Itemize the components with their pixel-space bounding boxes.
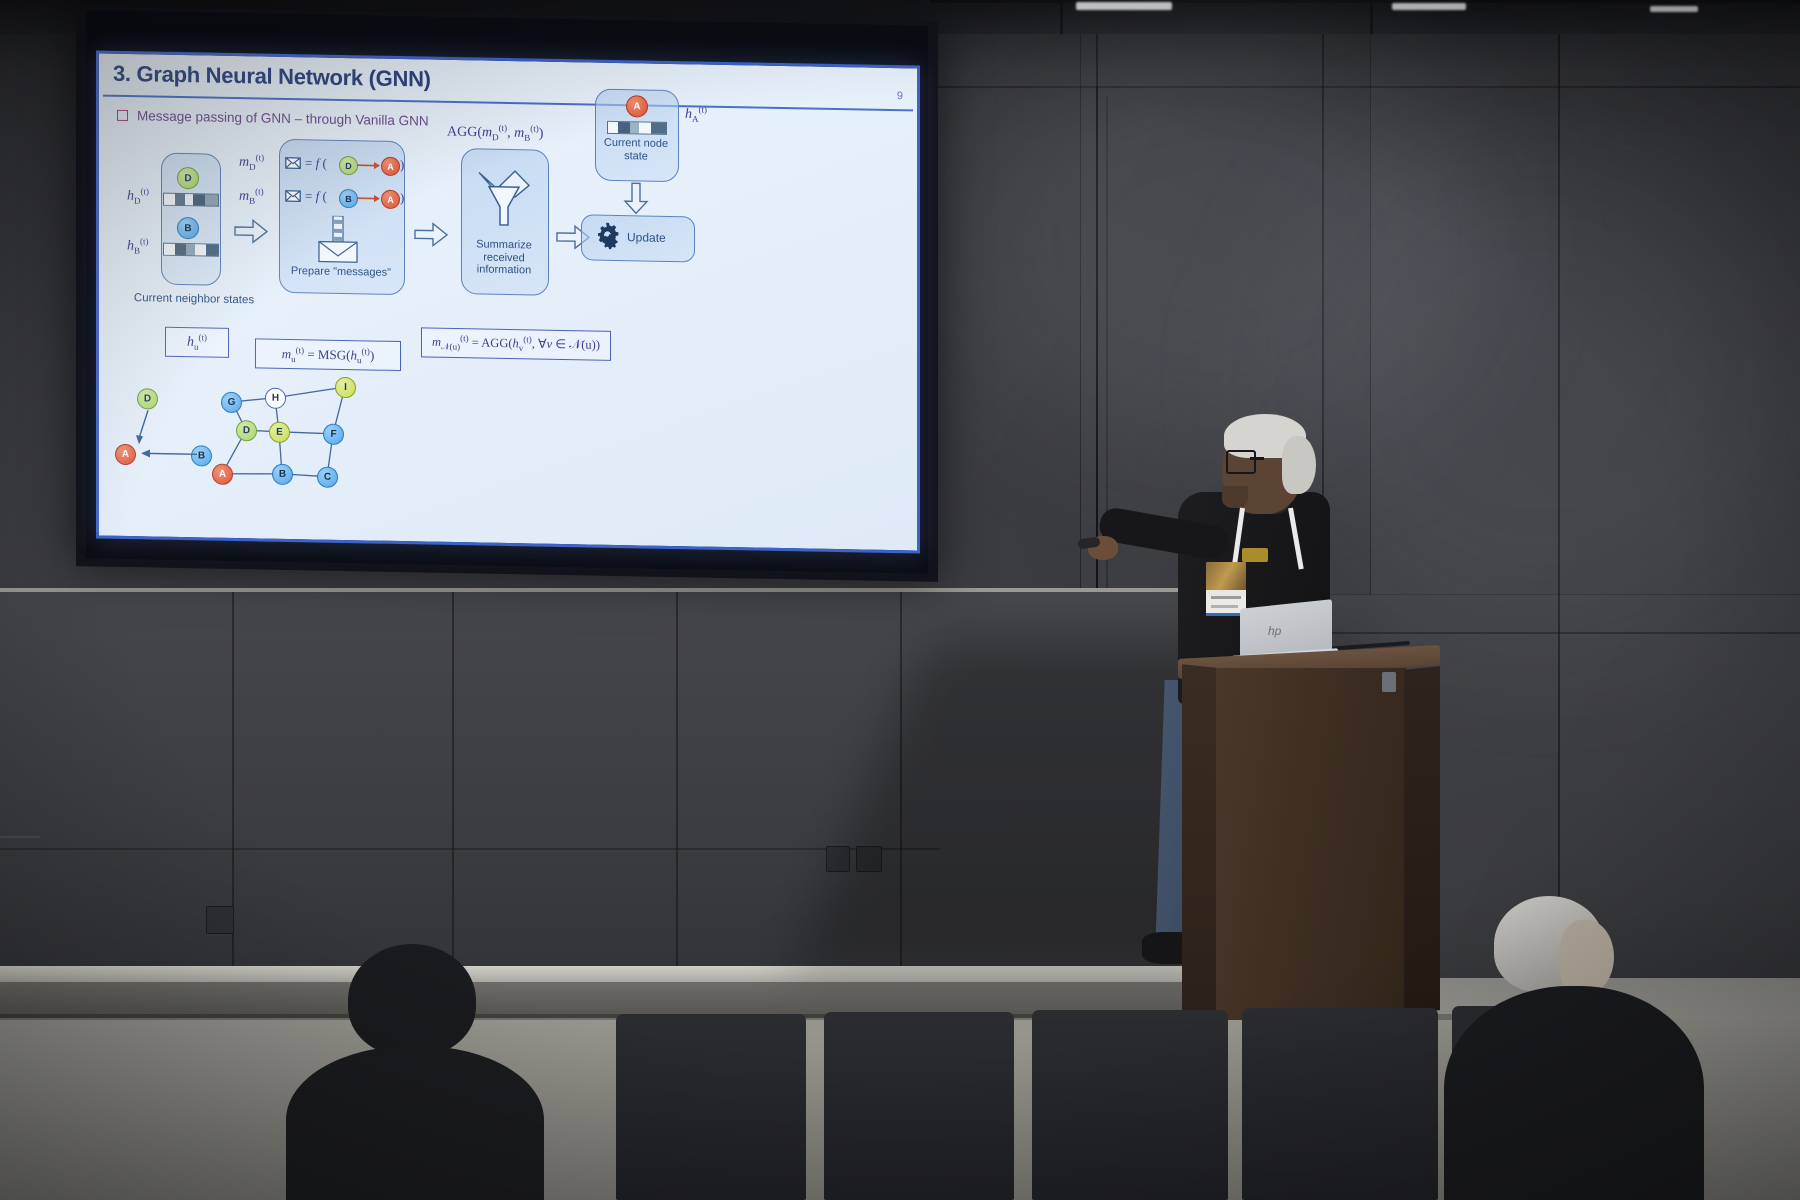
formula-mu: mu(t) = MSG(hu(t)) (282, 344, 375, 365)
graph-node-D-net: D (236, 420, 257, 441)
label-h-A: hA(t) (685, 104, 707, 124)
aggregate-caption-l3: information (461, 263, 547, 277)
prepare-messages-caption: Prepare "messages" (281, 265, 401, 280)
graph-node-A-current: A (626, 95, 648, 117)
slide-title: 3. Graph Neural Network (GNN) (113, 61, 431, 93)
ceiling-light (1392, 3, 1466, 10)
flow-arrow-icon (413, 221, 449, 248)
graph-node-I: I (335, 377, 356, 398)
wall-seam (0, 848, 940, 850)
message-expr-B: = f ( (305, 188, 327, 204)
badge-photo (1206, 562, 1246, 590)
flow-arrow-icon (233, 218, 269, 245)
label-h-D: hD(t) (127, 186, 149, 206)
graph-node-B-msg: B (339, 189, 358, 208)
slide-page-number: 9 (897, 90, 903, 102)
podium-body (1214, 668, 1406, 1020)
audience-chair (616, 1014, 806, 1200)
formula-mnu: m𝒩(u)(t) = AGG(hv(t), ∀v ∈ 𝒩(u)) (432, 333, 600, 356)
wall-seam (0, 836, 40, 838)
arrow-right-icon (357, 160, 381, 170)
envelope-letter-icon (313, 215, 363, 264)
audience-face (1560, 920, 1614, 994)
audience-chair (1032, 1010, 1228, 1200)
funnel-icon (475, 162, 533, 233)
audience-shoulders (1444, 986, 1704, 1200)
formula-box-mu: mu(t) = MSG(hu(t)) (255, 338, 401, 371)
current-node-caption: Current node state (595, 137, 677, 164)
envelope-icon (285, 157, 301, 169)
wall-panel (930, 34, 1081, 595)
ceiling-seam (1370, 0, 1373, 34)
wall-seam (452, 592, 454, 978)
wall-seam (930, 86, 1800, 88)
agg-formula: AGG(mD(t), mB(t)) (447, 122, 543, 143)
audience-chair (824, 1012, 1014, 1200)
graph-node-B: B (177, 217, 199, 239)
arrow-right-icon (357, 193, 381, 203)
graph-node-F: F (323, 424, 344, 445)
graph-node-E: E (269, 422, 290, 443)
bullet-square-icon (117, 110, 128, 121)
presenter-glasses-bridge (1250, 457, 1264, 460)
wall-panel (1370, 34, 1800, 595)
graph-node-B-net: B (272, 464, 293, 485)
laptop-brand-logo: hp (1268, 624, 1281, 638)
audience-chair (1242, 1008, 1438, 1200)
screen-ledge (0, 588, 1180, 592)
gears-icon (593, 221, 625, 254)
flow-arrow-down-icon (623, 181, 649, 215)
current-node-caption-l2: state (595, 149, 677, 163)
aggregate-caption: Summarize received information (461, 238, 547, 277)
label-m-D: mD(t) (239, 152, 264, 172)
graph-node-D: D (177, 167, 199, 189)
graph-node-G: G (221, 392, 242, 413)
bullet-label: Message passing of GNN – through Vanilla… (137, 108, 429, 128)
audience-shoulders (286, 1046, 544, 1200)
formula-box-mnu: m𝒩(u)(t) = AGG(hv(t), ∀v ∈ 𝒩(u)) (421, 327, 611, 360)
audience-head (348, 944, 476, 1056)
state-vector-A (607, 121, 667, 135)
graph-node-D-msg: D (339, 156, 358, 175)
label-h-B: hB(t) (127, 236, 149, 256)
podium-side-right (1404, 666, 1440, 1014)
presenter-beard (1222, 486, 1248, 508)
graph-node-C: C (317, 466, 338, 487)
current-node-caption-l1: Current node (595, 137, 677, 151)
wall-socket (206, 906, 234, 934)
envelope-icon (285, 190, 301, 202)
chest-logo (1242, 548, 1268, 562)
podium-side (1182, 664, 1216, 1018)
ceiling-light (1076, 2, 1172, 10)
graph-node-A-msg: A (381, 190, 400, 209)
update-label: Update (627, 231, 687, 246)
label-m-B: mB(t) (239, 186, 264, 206)
screenshot-root: 3. Graph Neural Network (GNN) 9 Message … (0, 0, 1800, 1200)
neighbor-states-caption: Current neighbor states (109, 292, 279, 308)
state-vector-D (163, 193, 219, 207)
graph-node-A-net: A (212, 464, 233, 485)
podium-cable-clip (1382, 672, 1396, 692)
presenter-hair-side (1282, 436, 1316, 494)
presenter-glasses (1226, 450, 1256, 474)
message-expr-D: = f ( (305, 155, 327, 171)
formula-hu: hu(t) (187, 332, 207, 352)
message-paren-D: ) (400, 157, 404, 173)
slide-bullet: Message passing of GNN – through Vanilla… (117, 108, 429, 129)
message-paren-B: ) (400, 190, 404, 206)
ceiling-light (1650, 6, 1698, 12)
door-edge (1106, 96, 1108, 666)
graph-node-H: H (265, 388, 286, 409)
presentation-slide[interactable]: 3. Graph Neural Network (GNN) 9 Message … (96, 50, 920, 553)
formula-box-hu: hu(t) (165, 327, 229, 358)
wall-seam (676, 592, 678, 978)
conference-badge (1206, 562, 1246, 616)
state-vector-B (163, 243, 219, 257)
graph-node-A-msg: A (381, 157, 400, 176)
ceiling-seam (1060, 0, 1063, 34)
